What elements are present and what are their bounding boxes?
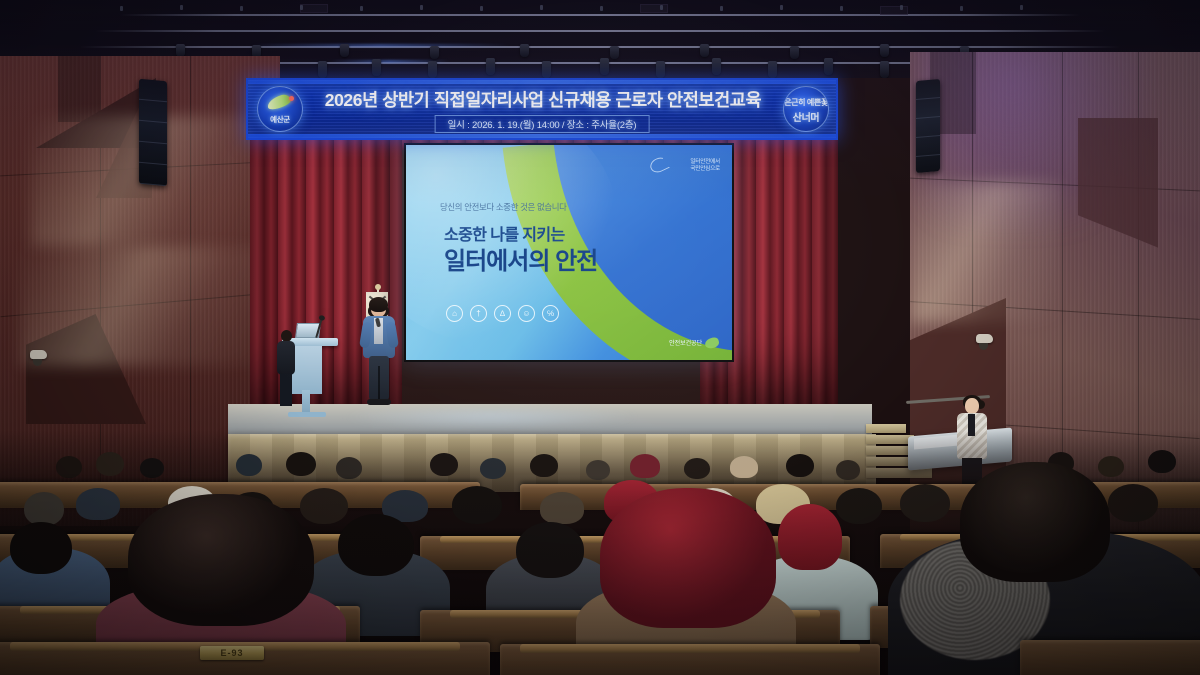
- seat-number-plate: E-93: [200, 646, 264, 660]
- kosha-campaign-logo: 일터안전에서 국민안심으로: [652, 155, 720, 177]
- safety-helmet-icon: ⌂: [446, 305, 463, 322]
- foreground-attendee-head: [960, 462, 1110, 582]
- banner-subtitle: 일시 : 2026. 1. 19.(월) 14:00 / 장소 : 주사율(2층…: [435, 115, 650, 133]
- attendee-head: [300, 488, 348, 524]
- attendee-head: [480, 458, 506, 479]
- line-array-loudspeaker: [139, 79, 167, 186]
- slide-icon-row: ⌂ † ∆ ☺ ℅: [446, 305, 559, 322]
- attendee-head: [1098, 456, 1124, 477]
- slide-eyebrow-text: 당신의 안전보다 소중한 것은 없습니다: [440, 201, 567, 213]
- projection-screen: 일터안전에서 국민안심으로 당신의 안전보다 소중한 것은 없습니다 소중한 나…: [404, 143, 734, 362]
- attendee-red-knit-hat: [778, 504, 842, 570]
- attendee-head: [1148, 450, 1176, 473]
- attendee-bucket-hat: [730, 456, 758, 478]
- attendee-head: [684, 458, 710, 479]
- technician-at-lectern: [276, 330, 296, 408]
- attendee-head: [836, 460, 860, 480]
- attendee-head: [56, 456, 82, 478]
- attendee-head: [516, 522, 584, 578]
- floor-sheen: [340, 408, 640, 430]
- campaign-logo-line2: 국민안심으로: [690, 166, 720, 173]
- attendee-head: [24, 492, 64, 526]
- attendee-cap: [76, 488, 120, 520]
- attendee-head: [1108, 484, 1158, 522]
- attendee-head: [586, 460, 610, 480]
- attendee-head: [96, 452, 124, 476]
- campaign-logo-line1: 일터안전에서: [690, 159, 720, 166]
- safety-person-icon: †: [470, 305, 487, 322]
- slide-headline-line2: 일터에서의 안전: [444, 241, 597, 276]
- dot-icon: [289, 96, 294, 101]
- line-array-loudspeaker-right: [916, 79, 940, 173]
- kosha-mark-icon: [704, 336, 720, 349]
- slogan-line2: 산너머: [784, 109, 828, 124]
- seat-row: [1020, 640, 1200, 675]
- auditorium-photo: 일터안전에서 국민안심으로 당신의 안전보다 소중한 것은 없습니다 소중한 나…: [0, 0, 1200, 675]
- event-banner: 예산군 2026년 상반기 직접일자리사업 신규채용 근로자 안전보건교육 일시…: [246, 78, 838, 140]
- attendee-head: [140, 458, 164, 478]
- attendee-cap: [540, 492, 584, 524]
- attendee-head: [786, 454, 814, 477]
- attendee-head: [836, 488, 882, 524]
- county-slogan-emblem: 은근히 예쁜꽃 산너머: [783, 86, 829, 132]
- attendee-head: [452, 486, 502, 524]
- slogan-line1: 은근히 예쁜꽃: [784, 97, 828, 108]
- attendee-head: [236, 454, 262, 476]
- attendee-head: [286, 452, 316, 476]
- leaf-icon: [266, 93, 292, 111]
- attendee-head: [430, 453, 458, 476]
- presenter-on-stage: [362, 300, 396, 408]
- foreground-attendee-head: [128, 494, 314, 626]
- attendee-head: [10, 522, 72, 574]
- emblem-label: 예산군: [258, 114, 302, 125]
- yesan-county-emblem: 예산군: [257, 86, 303, 132]
- safety-mask-icon: ☺: [518, 305, 535, 322]
- audience-seating: F-94 E-93: [0, 430, 1200, 675]
- foreground-burgundy-beanie: [600, 488, 776, 628]
- presentation-slide: 일터안전에서 국민안심으로 당신의 안전보다 소중한 것은 없습니다 소중한 나…: [406, 145, 732, 360]
- safety-gear-icon: ∆: [494, 305, 511, 322]
- attendee-head: [336, 457, 362, 479]
- swoosh-icon: [648, 155, 670, 175]
- attendee-head: [900, 484, 950, 522]
- security-camera: [30, 350, 47, 366]
- kosha-org-name: 안전보건공단: [669, 340, 702, 347]
- security-camera-right: [976, 334, 993, 350]
- banner-title: 2026년 상반기 직접일자리사업 신규채용 근로자 안전보건교육: [316, 85, 770, 113]
- attendee-knit-hat: [630, 454, 660, 478]
- attendee-head: [530, 454, 558, 477]
- safety-glove-icon: ℅: [542, 305, 559, 322]
- kosha-org-logo: 안전보건공단: [669, 338, 719, 348]
- attendee-head: [338, 514, 414, 576]
